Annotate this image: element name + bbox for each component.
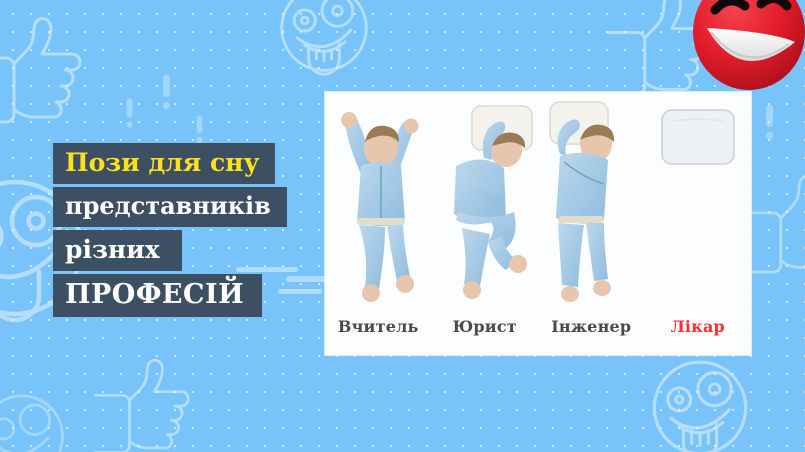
sleep-pose-teacher <box>325 92 432 304</box>
empty-pillow-illustration <box>652 92 744 304</box>
sleep-pose-doctor <box>645 92 752 304</box>
headline-line-4: ПРОФЕСІЙ <box>53 274 262 317</box>
tongue-out-face-icon <box>648 358 752 452</box>
exclamation-mark-icon <box>766 105 773 139</box>
headline-line-2: представників <box>53 187 287 227</box>
photo-card: Вчитель Юрист Інженер Лікар <box>325 92 751 355</box>
sleep-pose-lawyer <box>432 92 539 304</box>
tongue-out-face-icon <box>276 0 372 82</box>
person-curled-illustration <box>432 92 538 304</box>
photo-strip <box>325 92 751 304</box>
tongue-out-face-icon <box>0 392 68 452</box>
headline-line-3: різних <box>53 230 182 271</box>
pose-label-row: Вчитель Юрист Інженер Лікар <box>325 304 751 355</box>
sleep-pose-engineer <box>538 92 645 304</box>
thumbs-up-icon <box>604 0 730 102</box>
pose-label-lawyer: Юрист <box>432 317 539 336</box>
headline-block: Пози для сну представників різних ПРОФЕС… <box>53 143 287 317</box>
pose-label-teacher: Вчитель <box>325 317 432 336</box>
exclamation-mark-icon <box>163 75 170 109</box>
pose-label-doctor: Лікар <box>645 317 752 336</box>
exclamation-mark-icon <box>127 99 133 128</box>
thumbs-up-icon <box>92 352 208 452</box>
headline-line-1: Пози для сну <box>53 143 275 184</box>
pose-label-engineer: Інженер <box>538 317 645 336</box>
laughing-emoji <box>685 0 805 98</box>
poster-canvas: Пози для сну представників різних ПРОФЕС… <box>0 0 805 452</box>
thumbs-up-icon <box>0 10 102 130</box>
pillow <box>662 110 734 164</box>
person-facedown-illustration <box>538 92 644 304</box>
exclamation-mark-icon <box>197 115 203 142</box>
person-starfish-illustration <box>325 92 431 304</box>
thumbs-up-icon <box>742 168 805 280</box>
